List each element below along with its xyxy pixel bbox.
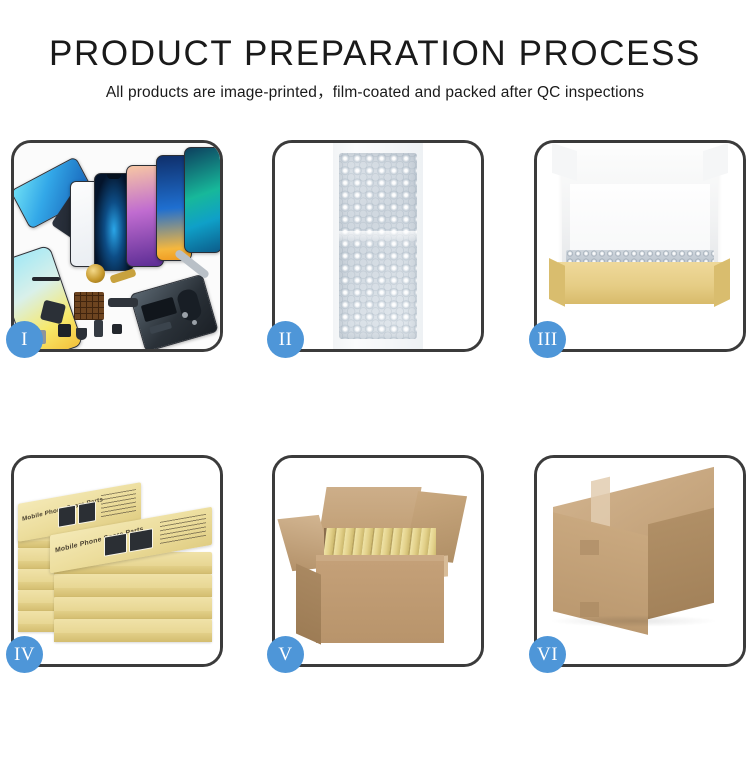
stacked-box-front-3 <box>54 597 212 619</box>
process-row-bottom: Mobile Phone Spare Parts Mobile Phone Sp… <box>0 455 750 672</box>
step-4-image: Mobile Phone Spare Parts Mobile Phone Sp… <box>14 458 220 664</box>
page-title: PRODUCT PREPARATION PROCESS <box>0 34 750 74</box>
bubble-wrap-pouch <box>339 153 417 338</box>
open-carton-scene <box>275 458 481 664</box>
process-row-top: I II <box>0 140 750 357</box>
inner-box-scene <box>537 143 743 349</box>
screw-part-2 <box>192 320 197 325</box>
box-edge <box>54 588 212 597</box>
sealed-carton-side <box>648 507 714 618</box>
carton-ground-shadow <box>549 615 718 627</box>
carton-body-front <box>316 561 444 643</box>
page-subtitle: All products are image-printed，film-coat… <box>0 83 750 103</box>
step-badge-6: VI <box>529 636 566 673</box>
stacked-boxes-scene: Mobile Phone Spare Parts Mobile Phone Sp… <box>14 458 220 664</box>
process-step-grid: I II <box>0 140 750 770</box>
box-right-side-flap <box>714 258 730 307</box>
step-6-image <box>537 458 743 664</box>
phone-notch <box>107 174 121 179</box>
step-badge-5: V <box>267 636 304 673</box>
step-panel-2[interactable]: II <box>272 140 484 352</box>
box-left-side-flap <box>549 258 565 307</box>
step-badge-3: III <box>529 321 566 358</box>
ic-chip-part-2 <box>112 324 122 334</box>
page-header: PRODUCT PREPARATION PROCESS All products… <box>0 0 750 103</box>
spare-parts-group <box>14 258 220 349</box>
connector-grid-part <box>74 292 104 320</box>
phone-fan-group <box>14 143 220 271</box>
phone-screen-teal-wave <box>184 147 220 253</box>
box-edge <box>54 633 212 642</box>
kraft-box-base <box>558 262 723 303</box>
step-2-image <box>275 143 481 349</box>
phone-parts-scene <box>14 143 220 349</box>
step-panel-5[interactable]: V <box>272 455 484 667</box>
box-art-screen-2 <box>78 502 96 525</box>
box-edge <box>54 611 212 620</box>
plastic-sheen <box>339 231 417 244</box>
step-1-image <box>14 143 220 349</box>
step-5-image <box>275 458 481 664</box>
earpiece-mesh-part <box>32 277 60 281</box>
vibrator-motor-part <box>94 320 103 337</box>
carton-body-side <box>296 564 321 645</box>
ic-chip-part-1 <box>58 324 71 337</box>
box-art-screen-2 <box>129 528 152 552</box>
flex-cable-part-3 <box>109 269 136 285</box>
box-spec-text-lines <box>160 514 205 547</box>
stacked-box-front-4 <box>54 619 212 641</box>
step-panel-4[interactable]: Mobile Phone Spare Parts Mobile Phone Sp… <box>11 455 223 667</box>
step-panel-3[interactable]: III <box>534 140 746 352</box>
sealed-carton-scene <box>537 458 743 664</box>
box-spec-text-lines <box>102 489 136 520</box>
box-stack: Mobile Phone Spare Parts Mobile Phone Sp… <box>18 483 216 656</box>
stacked-box-front-2 <box>54 574 212 596</box>
flex-cable-part-2 <box>108 298 138 307</box>
screw-part-1 <box>182 312 188 318</box>
box-art-screen-1 <box>59 505 77 528</box>
step-panel-1[interactable]: I <box>11 140 223 352</box>
copper-coil-part <box>86 264 105 283</box>
step-panel-6[interactable]: VI <box>534 455 746 667</box>
step-3-image <box>537 143 743 349</box>
speaker-part <box>76 328 87 340</box>
carton-hand-hole-top <box>580 540 599 554</box>
box-art-screen-1 <box>103 533 126 557</box>
step-badge-4: IV <box>6 636 43 673</box>
step-badge-1: I <box>6 321 43 358</box>
step-badge-2: II <box>267 321 304 358</box>
bubble-wrap-scene <box>275 143 481 349</box>
flex-cable-part-1 <box>40 300 66 325</box>
bubble-pattern-secondary <box>339 153 417 338</box>
